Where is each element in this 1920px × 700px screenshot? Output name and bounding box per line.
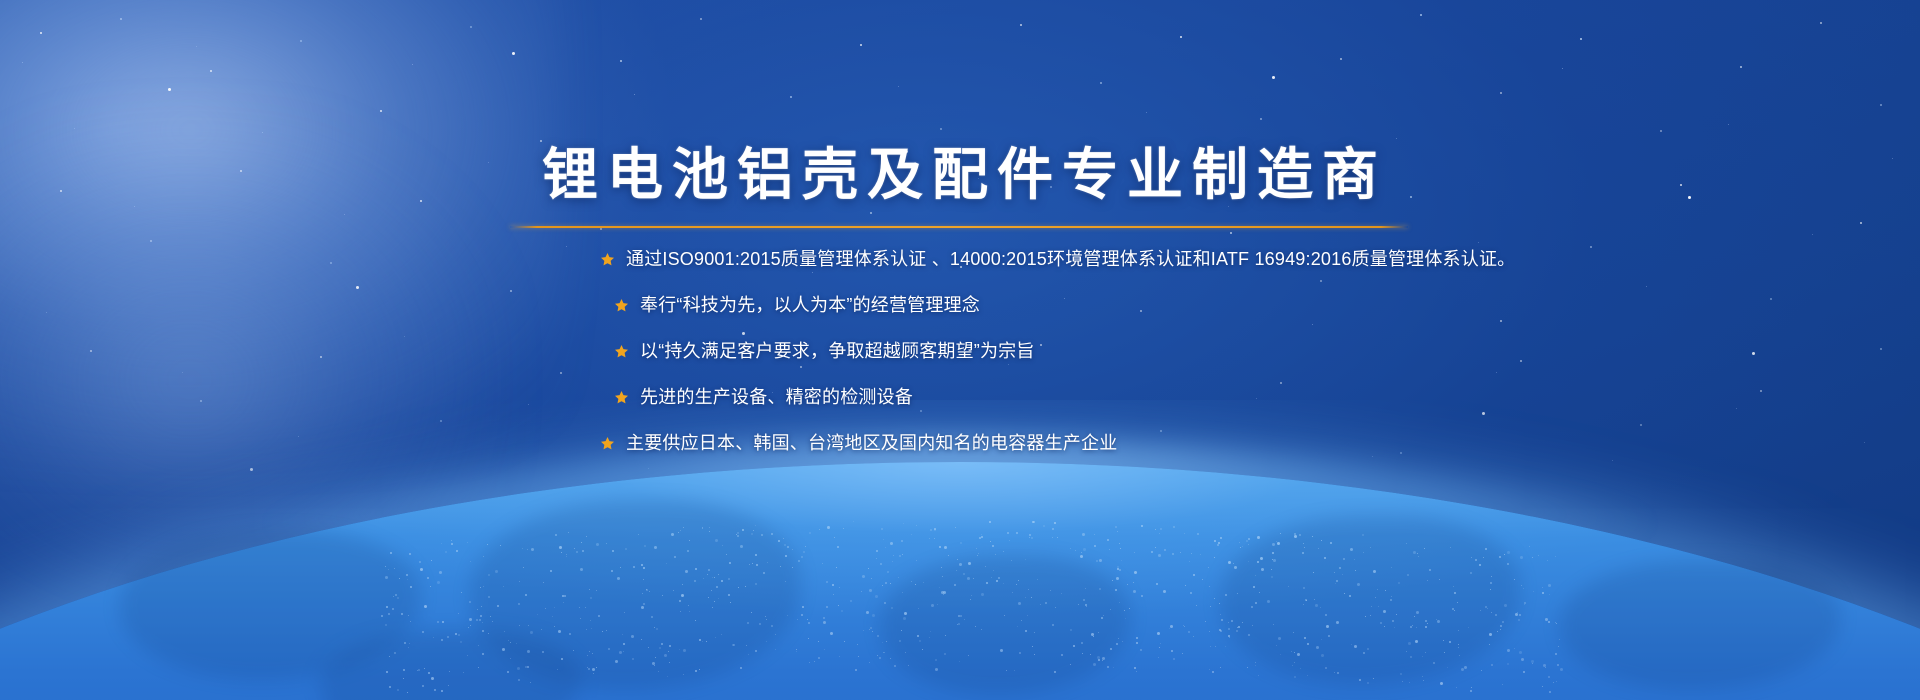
star-icon (614, 344, 629, 359)
bullet-text: 主要供应日本、韩国、台湾地区及国内知名的电容器生产企业 (626, 432, 1117, 454)
page-title: 锂电池铝壳及配件专业制造商 (0, 144, 1920, 206)
star-icon (614, 390, 629, 405)
bullet-text: 以“持久满足客户要求，争取超越顾客期望”为宗旨 (640, 340, 1035, 362)
hero-banner: 锂电池铝壳及配件专业制造商 通过ISO9001:2015质量管理体系认证 、14… (0, 0, 1920, 700)
feature-bullet-list: 通过ISO9001:2015质量管理体系认证 、14000:2015环境管理体系… (600, 248, 1760, 478)
banner-content: 锂电池铝壳及配件专业制造商 通过ISO9001:2015质量管理体系认证 、14… (0, 0, 1920, 700)
star-icon (600, 252, 615, 267)
list-item: 以“持久满足客户要求，争取超越顾客期望”为宗旨 (600, 340, 1760, 386)
list-item: 奉行“科技为先，以人为本”的经营管理理念 (600, 294, 1760, 340)
bullet-text: 先进的生产设备、精密的检测设备 (640, 386, 913, 408)
star-icon (614, 298, 629, 313)
list-item: 通过ISO9001:2015质量管理体系认证 、14000:2015环境管理体系… (600, 248, 1760, 294)
bullet-text: 奉行“科技为先，以人为本”的经营管理理念 (640, 294, 980, 316)
star-icon (600, 436, 615, 451)
title-divider (510, 226, 1408, 228)
list-item: 先进的生产设备、精密的检测设备 (600, 386, 1760, 432)
bullet-text: 通过ISO9001:2015质量管理体系认证 、14000:2015环境管理体系… (626, 248, 1515, 270)
list-item: 主要供应日本、韩国、台湾地区及国内知名的电容器生产企业 (600, 432, 1760, 478)
